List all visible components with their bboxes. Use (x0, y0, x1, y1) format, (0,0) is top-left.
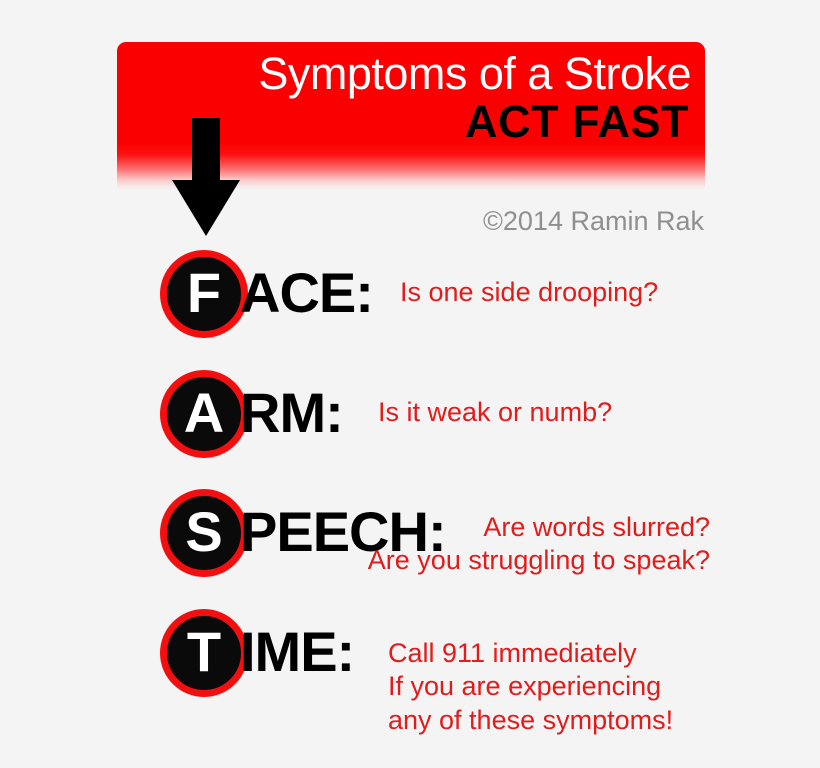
symptom-description-speech: Are words slurred? Are you struggling to… (368, 511, 710, 578)
page-title: Symptoms of a Stroke (117, 50, 691, 99)
letter-badge-f: F (160, 250, 248, 338)
description-line: Are words slurred? (368, 511, 710, 544)
badge-letter-text: T (187, 624, 221, 680)
copyright-credit: ©2014 Ramin Rak (483, 206, 704, 237)
letter-badge-a: A (160, 370, 248, 458)
stroke-symptoms-poster: Symptoms of a Stroke ACT FAST ©2014 Rami… (0, 0, 820, 768)
symptom-word-time: IME: (240, 624, 354, 680)
symptom-word-arm: RM: (240, 385, 343, 441)
description-line: If you are experiencing (388, 670, 673, 703)
symptom-description-time: Call 911 immediately If you are experien… (388, 637, 673, 737)
description-line: Are you struggling to speak? (368, 544, 710, 577)
symptom-description-face: Is one side drooping? (400, 276, 658, 309)
symptom-word-face: ACE: (240, 265, 373, 321)
badge-letter-text: S (185, 504, 222, 560)
badge-letter-text: F (187, 265, 221, 321)
description-line: Is one side drooping? (400, 276, 658, 309)
description-line: Is it weak or numb? (378, 396, 612, 429)
letter-badge-s: S (160, 489, 248, 577)
badge-letter-text: A (184, 385, 224, 441)
description-line: any of these symptoms! (388, 704, 673, 737)
letter-badge-t: T (160, 609, 248, 697)
down-arrow-icon (172, 118, 240, 236)
symptom-description-arm: Is it weak or numb? (378, 396, 612, 429)
description-line: Call 911 immediately (388, 637, 673, 670)
